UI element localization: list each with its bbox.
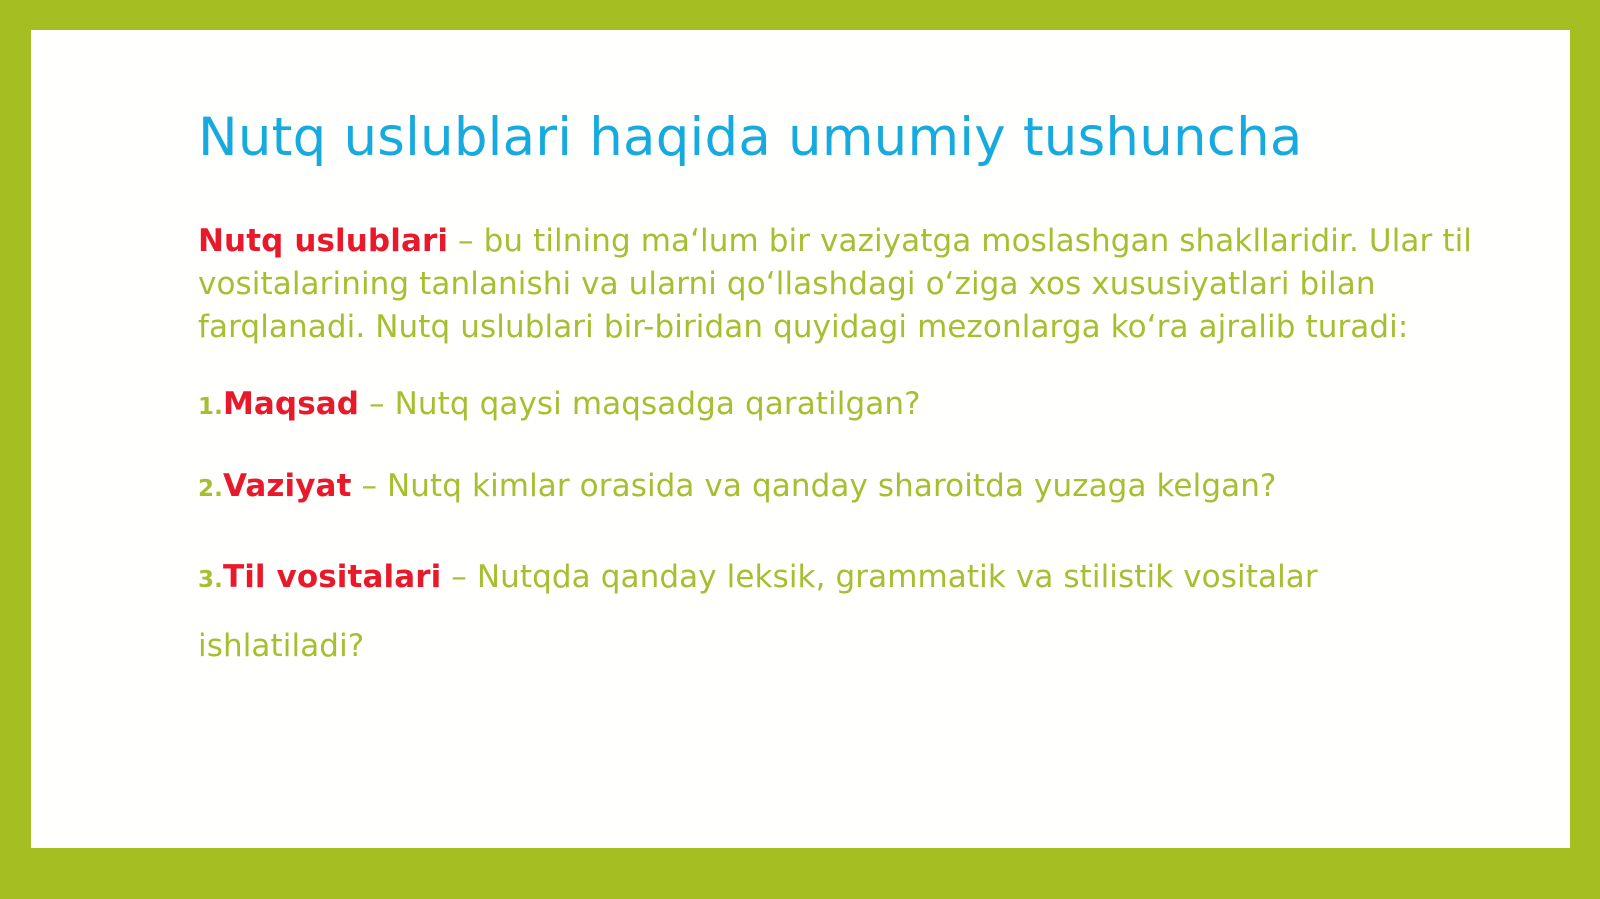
list-item-number: 1.: [198, 394, 223, 420]
intro-paragraph: Nutq uslublari – bu tilning maʻlum bir v…: [198, 220, 1488, 349]
slide-border-frame: Nutq uslublari haqida umumiy tushuncha N…: [0, 0, 1600, 899]
list-item-description: – Nutq kimlar orasida va qanday sharoitd…: [351, 468, 1276, 504]
page-title: Nutq uslublari haqida umumiy tushuncha: [198, 108, 1498, 167]
list-item-description: – Nutq qaysi maqsadga qaratilgan?: [359, 386, 921, 422]
list-item-term: Maqsad: [223, 386, 359, 422]
list-item: 1.Maqsad – Nutq qaysi maqsadga qaratilga…: [198, 380, 1488, 431]
slide-body: Nutq uslublari – bu tilning maʻlum bir v…: [198, 220, 1488, 679]
list-item-term: Vaziyat: [223, 468, 352, 504]
list-item-number: 2.: [198, 476, 223, 502]
slide-canvas: Nutq uslublari haqida umumiy tushuncha N…: [31, 30, 1570, 848]
list-item-term: Til vositalari: [223, 559, 441, 595]
list-item: 2.Vaziyat – Nutq kimlar orasida va qanda…: [198, 462, 1488, 513]
list-item: 3.Til vositalari – Nutqda qanday leksik,…: [198, 544, 1488, 679]
list-item-number: 3.: [198, 567, 223, 593]
intro-lead-term: Nutq uslublari: [198, 223, 448, 259]
